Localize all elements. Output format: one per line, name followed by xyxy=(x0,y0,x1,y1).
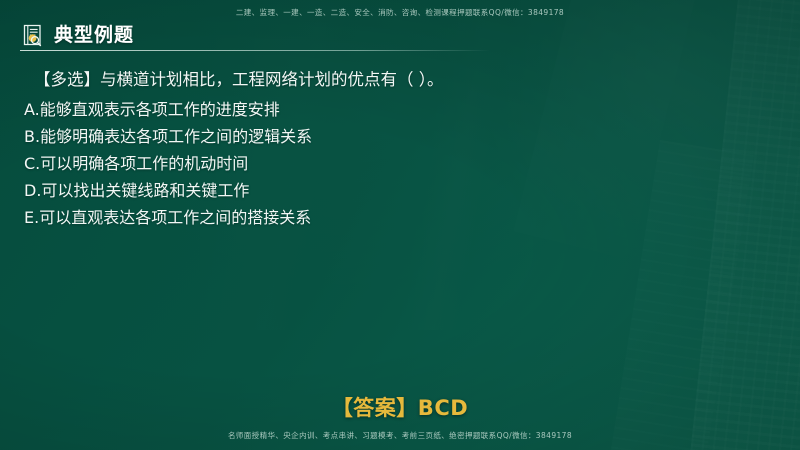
option-c[interactable]: C.可以明确各项工作的机动时间 xyxy=(22,150,582,177)
option-e[interactable]: E.可以直观表达各项工作之间的搭接关系 xyxy=(22,204,582,231)
question-stem: 【多选】与横道计划相比，工程网络计划的优点有（ ）。 xyxy=(22,66,582,94)
title-underline-divider xyxy=(20,50,490,51)
option-b[interactable]: B.能够明确表达各项工作之间的逻辑关系 xyxy=(22,123,582,150)
answer-text: 【答案】BCD xyxy=(0,392,800,422)
slide-root: 二建、监理、一建、一造、二造、安全、消防、咨询、检测课程押题联系QQ/微信：38… xyxy=(0,0,800,450)
question-block: 【多选】与横道计划相比，工程网络计划的优点有（ ）。 A.能够直观表示各项工作的… xyxy=(22,66,582,231)
top-promo-text: 二建、监理、一建、一造、二造、安全、消防、咨询、检测课程押题联系QQ/微信：38… xyxy=(0,7,800,18)
option-a[interactable]: A.能够直观表示各项工作的进度安排 xyxy=(22,96,582,123)
page-title: 典型例题 xyxy=(54,22,134,48)
book-search-icon xyxy=(20,22,46,48)
slide-title-row: 典型例题 xyxy=(20,22,134,48)
option-d[interactable]: D.可以找出关键线路和关键工作 xyxy=(22,177,582,204)
bottom-promo-text: 名师面授精华、央企内训、考点串讲、习题模考、考前三页纸、绝密押题联系QQ/微信：… xyxy=(0,430,800,441)
